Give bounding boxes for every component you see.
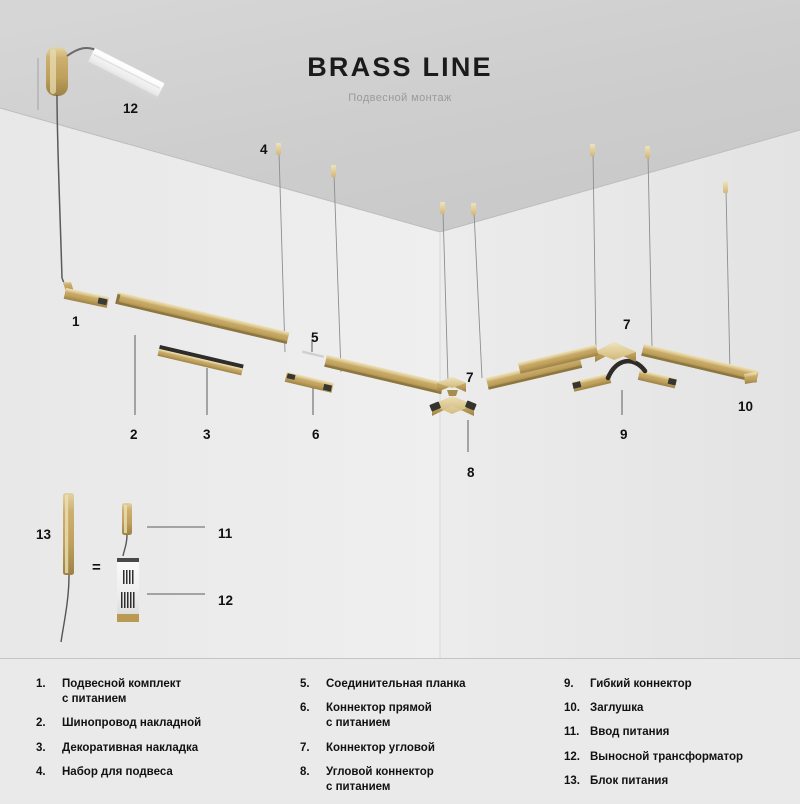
legend-column-2: 5.Соединительная планка6.Коннектор прямо… xyxy=(300,677,550,804)
legend-item-label: Ввод питания xyxy=(590,725,669,740)
legend-item-number: 11. xyxy=(564,725,590,740)
legend-item: 5.Соединительная планка xyxy=(300,677,550,692)
legend-item-number: 9. xyxy=(564,677,590,692)
callout-5: 5 xyxy=(311,331,319,345)
legend-column-1: 1.Подвесной комплектс питанием2.Шинопров… xyxy=(36,677,288,789)
callout-2: 2 xyxy=(130,428,138,442)
callout-3: 3 xyxy=(203,428,211,442)
page-title: BRASS LINE xyxy=(0,52,800,83)
callout-10: 10 xyxy=(738,400,753,414)
callout-7-right: 7 xyxy=(623,318,631,332)
legend-item-number: 5. xyxy=(300,677,326,692)
legend-item-label: Заглушка xyxy=(590,701,643,716)
legend-item-label: Коннектор угловой xyxy=(326,741,435,756)
diagram-scene: BRASS LINE Подвесной монтаж 1 2 3 4 5 6 … xyxy=(0,0,800,658)
callout-12-top: 12 xyxy=(123,102,138,116)
legend-item: 2.Шинопровод накладной xyxy=(36,716,288,731)
legend-item: 4.Набор для подвеса xyxy=(36,765,288,780)
legend-item-label: Шинопровод накладной xyxy=(62,716,201,731)
legend-item-number: 12. xyxy=(564,750,590,765)
legend-item-number: 13. xyxy=(564,774,590,789)
callout-11: 11 xyxy=(218,527,232,541)
legend-item: 6.Коннектор прямойс питанием xyxy=(300,701,550,731)
callout-12-bottom: 12 xyxy=(218,594,233,608)
callout-13: 13 xyxy=(36,528,51,542)
callout-9: 9 xyxy=(620,428,628,442)
legend-item: 3.Декоративная накладка xyxy=(36,741,288,756)
legend-item-label: Выносной трансформатор xyxy=(590,750,743,765)
legend-item-label: Набор для подвеса xyxy=(62,765,173,780)
legend-item-label: Блок питания xyxy=(590,774,668,789)
legend-item-number: 8. xyxy=(300,765,326,795)
part-10-end-cap xyxy=(744,372,757,384)
legend-item-label: Декоративная накладка xyxy=(62,741,198,756)
legend-item-number: 10. xyxy=(564,701,590,716)
equals-sign: = xyxy=(92,560,101,575)
legend-column-3: 9.Гибкий коннектор10.Заглушка11.Ввод пит… xyxy=(564,677,800,798)
legend-item-label: Коннектор прямойс питанием xyxy=(326,701,432,731)
callout-1: 1 xyxy=(72,315,80,329)
product-diagram-page: BRASS LINE Подвесной монтаж 1 2 3 4 5 6 … xyxy=(0,0,800,800)
callout-6: 6 xyxy=(312,428,320,442)
legend-item: 10.Заглушка xyxy=(564,701,800,716)
callout-4: 4 xyxy=(260,143,268,157)
legend-item-label: Соединительная планка xyxy=(326,677,466,692)
legend-item-label: Подвесной комплектс питанием xyxy=(62,677,181,707)
legend-item-number: 3. xyxy=(36,741,62,756)
legend-item: 8.Угловой коннекторс питанием xyxy=(300,765,550,795)
callout-7-left: 7 xyxy=(466,371,474,385)
legend-item-number: 6. xyxy=(300,701,326,731)
legend-panel: 1.Подвесной комплектс питанием2.Шинопров… xyxy=(0,658,800,801)
legend-item-number: 4. xyxy=(36,765,62,780)
legend-item-label: Угловой коннекторс питанием xyxy=(326,765,434,795)
legend-item: 13.Блок питания xyxy=(564,774,800,789)
legend-item-number: 2. xyxy=(36,716,62,731)
page-subtitle: Подвесной монтаж xyxy=(0,92,800,104)
legend-item: 12.Выносной трансформатор xyxy=(564,750,800,765)
part-12-remote-transformer-bottom xyxy=(117,558,139,622)
legend-item-label: Гибкий коннектор xyxy=(590,677,692,692)
callout-8: 8 xyxy=(467,466,475,480)
legend-item: 9.Гибкий коннектор xyxy=(564,677,800,692)
legend-item: 7.Коннектор угловой xyxy=(300,741,550,756)
legend-item: 11.Ввод питания xyxy=(564,725,800,740)
legend-item-number: 7. xyxy=(300,741,326,756)
legend-item: 1.Подвесной комплектс питанием xyxy=(36,677,288,707)
legend-item-number: 1. xyxy=(36,677,62,707)
